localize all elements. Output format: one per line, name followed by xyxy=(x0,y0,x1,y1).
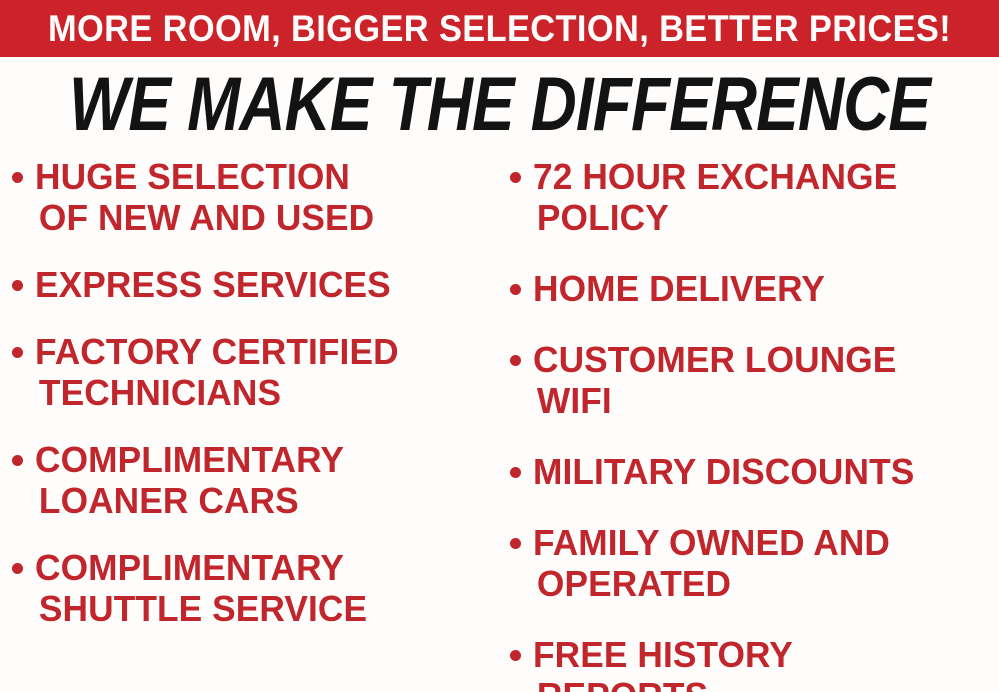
bullet-dot-icon xyxy=(12,563,23,574)
list-item: COMPLIMENTARY SHUTTLE SERVICE xyxy=(12,547,504,629)
list-item-text: COMPLIMENTARY SHUTTLE SERVICE xyxy=(35,547,367,629)
list-item-line: COMPLIMENTARY xyxy=(35,547,367,588)
list-item-line: CUSTOMER LOUNGE xyxy=(533,339,896,380)
list-item: FREE HISTORY REPORTS xyxy=(510,634,999,692)
list-item: HOME DELIVERY xyxy=(510,268,999,309)
list-item-text: HOME DELIVERY xyxy=(533,268,825,309)
list-item: HUGE SELECTION OF NEW AND USED xyxy=(12,156,504,238)
list-item: COMPLIMENTARY LOANER CARS xyxy=(12,439,504,521)
bullet-dot-icon xyxy=(510,355,521,366)
list-item-line: FREE HISTORY xyxy=(533,634,793,675)
bullet-dot-icon xyxy=(510,538,521,549)
list-item-line: OPERATED xyxy=(533,563,890,604)
list-item: FAMILY OWNED AND OPERATED xyxy=(510,522,999,604)
list-item-line: HOME DELIVERY xyxy=(533,268,825,309)
list-item-line: COMPLIMENTARY xyxy=(35,439,344,480)
bullet-dot-icon xyxy=(510,172,521,183)
benefits-column-left: HUGE SELECTION OF NEW AND USED EXPRESS S… xyxy=(12,156,504,692)
list-item-text: EXPRESS SERVICES xyxy=(35,264,391,305)
list-item-line: TECHNICIANS xyxy=(35,372,399,413)
bullet-dot-icon xyxy=(12,347,23,358)
list-item-line: WIFI xyxy=(533,380,896,421)
benefits-columns: HUGE SELECTION OF NEW AND USED EXPRESS S… xyxy=(0,156,999,692)
main-headline: WE MAKE THE DIFFERENCE xyxy=(69,67,930,143)
list-item: FACTORY CERTIFIED TECHNICIANS xyxy=(12,331,504,413)
bullet-dot-icon xyxy=(510,284,521,295)
list-item-text: 72 HOUR EXCHANGE POLICY xyxy=(533,156,897,238)
list-item: EXPRESS SERVICES xyxy=(12,264,504,305)
list-item-line: REPORTS xyxy=(533,675,793,692)
list-item: MILITARY DISCOUNTS xyxy=(510,451,999,492)
list-item-text: FAMILY OWNED AND OPERATED xyxy=(533,522,890,604)
list-item-text: FREE HISTORY REPORTS xyxy=(533,634,793,692)
list-item-line: FAMILY OWNED AND xyxy=(533,522,890,563)
advertisement-graphic: MORE ROOM, BIGGER SELECTION, BETTER PRIC… xyxy=(0,0,999,692)
list-item-line: HUGE SELECTION xyxy=(35,156,374,197)
list-item-line: LOANER CARS xyxy=(35,480,344,521)
list-item-line: SHUTTLE SERVICE xyxy=(35,588,367,629)
list-item-line: OF NEW AND USED xyxy=(35,197,374,238)
list-item-line: POLICY xyxy=(533,197,897,238)
list-item-line: FACTORY CERTIFIED xyxy=(35,331,399,372)
list-item-line: EXPRESS SERVICES xyxy=(35,264,391,305)
bullet-dot-icon xyxy=(510,467,521,478)
list-item-text: MILITARY DISCOUNTS xyxy=(533,451,914,492)
list-item-text: FACTORY CERTIFIED TECHNICIANS xyxy=(35,331,399,413)
benefits-column-right: 72 HOUR EXCHANGE POLICY HOME DELIVERY CU… xyxy=(510,156,999,692)
list-item-text: CUSTOMER LOUNGE WIFI xyxy=(533,339,896,421)
bullet-dot-icon xyxy=(12,280,23,291)
list-item-line: MILITARY DISCOUNTS xyxy=(533,451,914,492)
list-item-line: 72 HOUR EXCHANGE xyxy=(533,156,897,197)
top-banner: MORE ROOM, BIGGER SELECTION, BETTER PRIC… xyxy=(0,0,999,57)
bullet-dot-icon xyxy=(12,455,23,466)
list-item: 72 HOUR EXCHANGE POLICY xyxy=(510,156,999,238)
bullet-dot-icon xyxy=(12,172,23,183)
list-item: CUSTOMER LOUNGE WIFI xyxy=(510,339,999,421)
bullet-dot-icon xyxy=(510,650,521,661)
banner-headline: MORE ROOM, BIGGER SELECTION, BETTER PRIC… xyxy=(48,10,951,47)
list-item-text: COMPLIMENTARY LOANER CARS xyxy=(35,439,344,521)
list-item-text: HUGE SELECTION OF NEW AND USED xyxy=(35,156,374,238)
headline-container: WE MAKE THE DIFFERENCE xyxy=(0,64,999,146)
